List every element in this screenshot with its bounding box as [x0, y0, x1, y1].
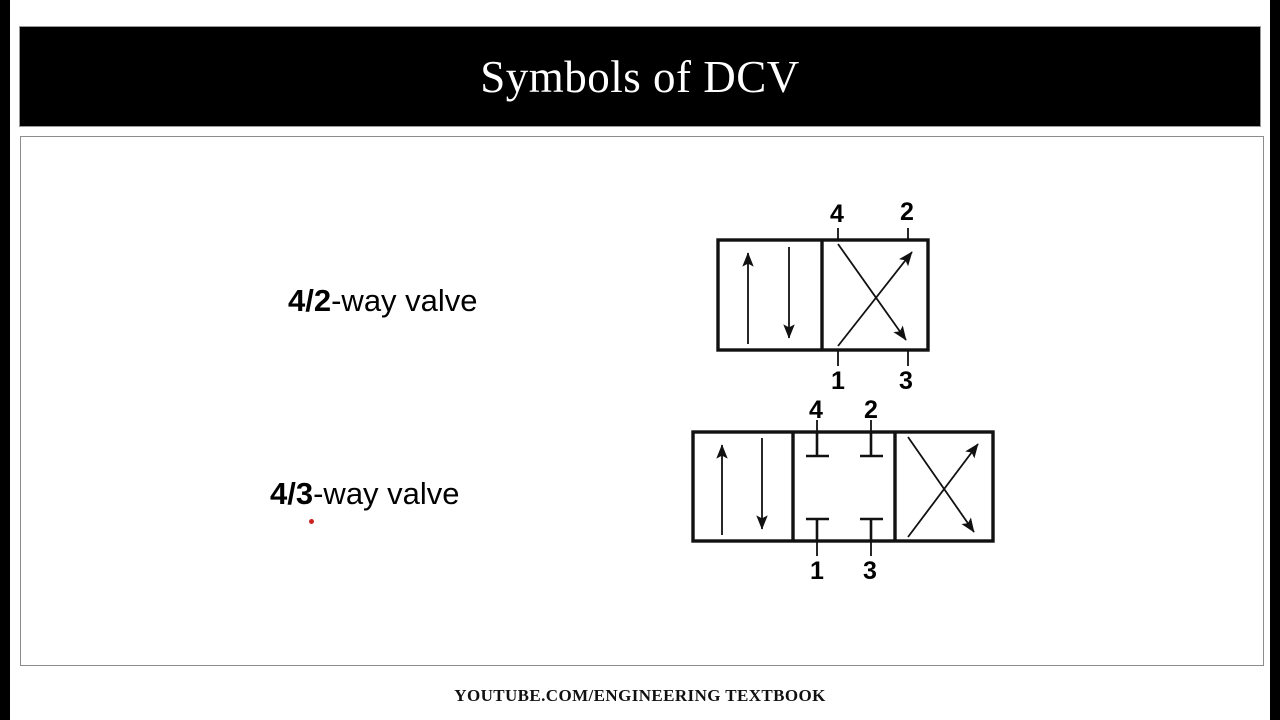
slide: Symbols of DCV 4/2-way valve 4/3-way val… — [0, 0, 1280, 720]
valve-4-2-label: 4/2-way valve — [288, 283, 478, 319]
valve-4-2-port-label-1: 1 — [831, 367, 845, 396]
letterbox-bar-left — [0, 0, 10, 720]
valve-4-3-label-bold: 4/3 — [270, 476, 313, 511]
content-frame — [20, 136, 1264, 666]
valve-4-3-port-label-2: 2 — [864, 396, 878, 425]
page-title: Symbols of DCV — [480, 51, 800, 103]
valve-4-3-port-label-1: 1 — [810, 557, 824, 586]
valve-4-2-port-label-4: 4 — [830, 200, 844, 229]
valve-4-2-label-bold: 4/2 — [288, 283, 331, 318]
valve-4-3-port-label-4: 4 — [809, 396, 823, 425]
valve-4-3-port-label-3: 3 — [863, 557, 877, 586]
valve-4-2-port-label-2: 2 — [900, 198, 914, 227]
valve-4-2-port-label-3: 3 — [899, 367, 913, 396]
footer-attribution: YOUTUBE.COM/ENGINEERING TEXTBOOK — [0, 686, 1280, 706]
valve-4-2-label-rest: -way valve — [331, 283, 477, 318]
valve-4-3-label: 4/3-way valve — [270, 476, 460, 512]
title-band: Symbols of DCV — [20, 27, 1260, 126]
red-dot-marker — [309, 519, 314, 524]
letterbox-bar-right — [1270, 0, 1280, 720]
valve-4-3-label-rest: -way valve — [313, 476, 459, 511]
